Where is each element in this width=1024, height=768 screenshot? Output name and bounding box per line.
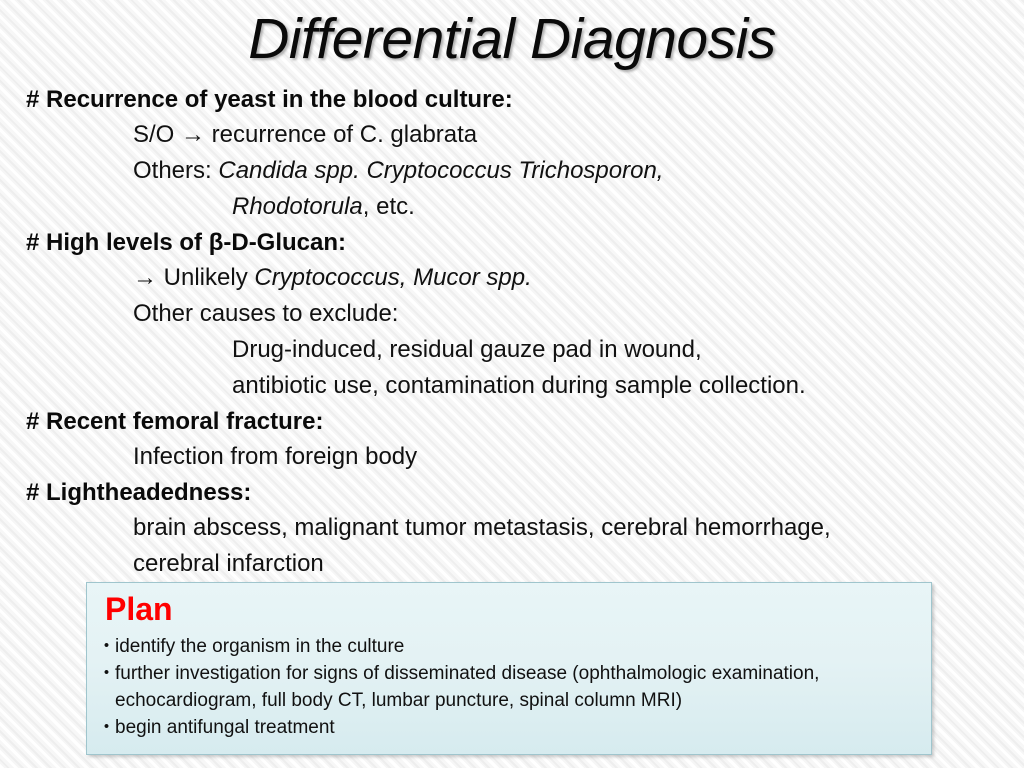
- section-line: antibiotic use, contamination during sam…: [0, 368, 1024, 404]
- section-heading: # High levels of β-D-Glucan:: [0, 225, 1024, 260]
- section-heading: # Lightheadedness:: [0, 475, 1024, 510]
- section-line: → Unlikely Cryptococcus, Mucor spp.: [0, 260, 1024, 296]
- section-line: brain abscess, malignant tumor metastasi…: [0, 510, 1024, 546]
- plan-title: Plan: [97, 589, 921, 629]
- line-text: , etc.: [363, 193, 415, 220]
- section-line: cerebral infarction: [0, 546, 1024, 582]
- section-heading: # Recurrence of yeast in the blood cultu…: [0, 82, 1024, 117]
- section-line: Drug-induced, residual gauze pad in woun…: [0, 332, 1024, 368]
- section-line: Infection from foreign body: [0, 439, 1024, 475]
- bullet-icon: ・: [97, 714, 115, 741]
- plan-item: ・further investigation for signs of diss…: [97, 660, 921, 714]
- line-text: brain abscess, malignant tumor metastasi…: [133, 514, 831, 541]
- line-text: Others:: [133, 157, 218, 184]
- line-text: → Unlikely: [133, 264, 254, 291]
- slide-canvas: Differential Diagnosis # Recurrence of y…: [0, 0, 1024, 768]
- section-line: Other causes to exclude:: [0, 296, 1024, 332]
- bullet-icon: ・: [97, 633, 115, 660]
- plan-item: ・identify the organism in the culture: [97, 633, 921, 660]
- section-line: S/O → recurrence of C. glabrata: [0, 117, 1024, 153]
- plan-callout-box: Plan ・identify the organism in the cultu…: [86, 582, 932, 755]
- plan-item-list: ・identify the organism in the culture・fu…: [97, 633, 921, 741]
- slide-body: # Recurrence of yeast in the blood cultu…: [0, 82, 1024, 582]
- line-text-italic: Candida spp. Cryptococcus Trichosporon,: [218, 157, 663, 184]
- plan-item-label: further investigation for signs of disse…: [115, 663, 819, 711]
- line-text: Drug-induced, residual gauze pad in woun…: [232, 336, 702, 363]
- plan-item: ・begin antifungal treatment: [97, 714, 921, 741]
- page-title: Differential Diagnosis: [0, 6, 1024, 72]
- line-text: Infection from foreign body: [133, 443, 417, 470]
- line-text: cerebral infarction: [133, 550, 324, 577]
- line-text: antibiotic use, contamination during sam…: [232, 372, 806, 399]
- section-line: Others: Candida spp. Cryptococcus Tricho…: [0, 153, 1024, 189]
- line-text: Other causes to exclude:: [133, 300, 398, 327]
- line-text-italic: Rhodotorula: [232, 193, 363, 220]
- line-text-italic: Cryptococcus, Mucor spp.: [254, 264, 531, 291]
- bullet-icon: ・: [97, 660, 115, 687]
- section-heading: # Recent femoral fracture:: [0, 404, 1024, 439]
- section-line: Rhodotorula, etc.: [0, 189, 1024, 225]
- line-text: S/O → recurrence of C. glabrata: [133, 121, 477, 148]
- plan-item-label: begin antifungal treatment: [115, 717, 335, 738]
- plan-item-label: identify the organism in the culture: [115, 636, 404, 657]
